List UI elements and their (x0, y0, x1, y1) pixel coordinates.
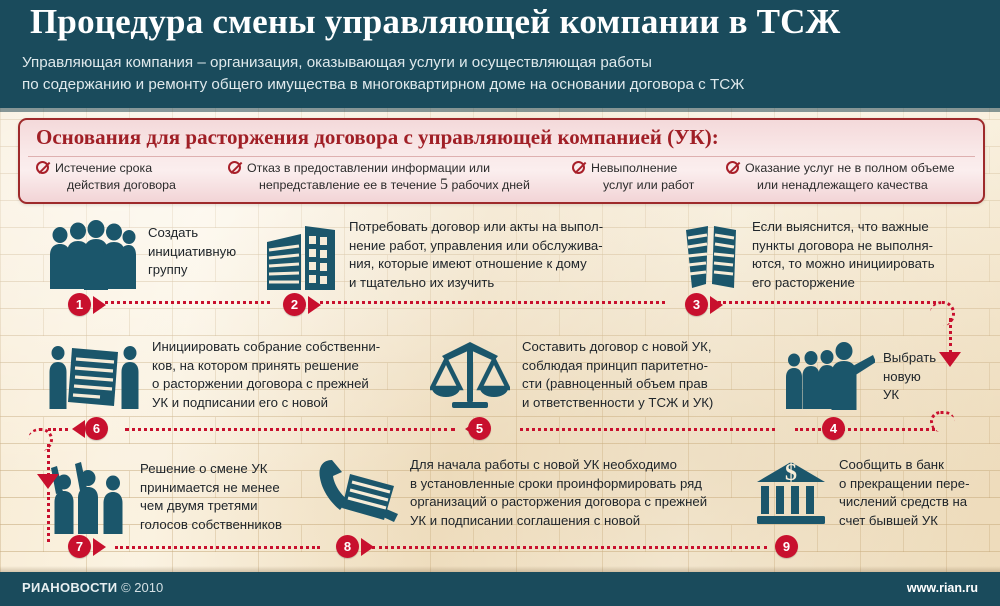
step-6-line-1: Инициировать собрание собственни- (152, 338, 380, 357)
step-3: Если выяснится, что важные пункты догово… (680, 220, 980, 306)
connector-1-to-2 (105, 301, 270, 304)
step-7-text: Решение о смене УК принимается не менее … (140, 460, 282, 534)
step-7-line-3: чем двумя третями (140, 497, 282, 516)
grounds-item-1-line-2: действия договора (55, 177, 226, 194)
step-4-line-1: Выбрать (883, 349, 936, 368)
prohibition-icon (572, 161, 585, 174)
step-5-line-1: Составить договор с новой УК, (522, 338, 713, 357)
step-7-arrow (93, 538, 106, 556)
step-5: Составить договор с новой УК, соблюдая п… (430, 340, 760, 430)
step-1: Создать инициативную группу 1 (48, 220, 278, 306)
step-6-text: Инициировать собрание собственни- ков, н… (152, 338, 380, 412)
step-8-text: Для начала работы с новой УК необходимо … (410, 456, 707, 530)
grounds-item-3-line-1: Невыполнение (591, 160, 722, 177)
step-5-line-4: и ответственности у ТСЖ и УК) (522, 394, 713, 413)
step-1-arrow (93, 296, 106, 314)
connector-2-to-3 (320, 301, 665, 304)
grounds-item-3-line-2: услуг или работ (591, 177, 722, 194)
step-3-line-3: ются, то можно инициировать (752, 255, 935, 274)
step-5-line-3: сти (равноценный объем прав (522, 375, 713, 394)
step-9-line-3: числений средств на (839, 493, 970, 512)
header-bar: Процедура смены управляющей компании в Т… (0, 0, 1000, 108)
grounds-item-2-text-b: рабочих дней (448, 178, 530, 192)
prohibition-icon (228, 161, 241, 174)
step-8-line-2: в установленные сроки проинформировать р… (410, 475, 707, 494)
step-9-text: Сообщить в банк о прекращении пере- числ… (839, 456, 970, 530)
step-2-badge: 2 (283, 293, 306, 316)
step-2: Потребовать договор или акты на выпол- н… (265, 220, 665, 306)
connector-8-to-9 (372, 546, 767, 549)
torn-contract-icon (680, 220, 742, 297)
connector-7-to-8 (115, 546, 320, 549)
svg-text:$: $ (785, 460, 797, 486)
step-1-line-3: группу (148, 261, 236, 280)
step-8: Для начала работы с новой УК необходимо … (318, 458, 768, 548)
footer-credit: РИАНОВОСТИ © 2010 (22, 580, 163, 595)
connector-4-inflow (795, 428, 935, 431)
step-7-line-2: принимается не менее (140, 479, 282, 498)
step-5-text: Составить договор с новой УК, соблюдая п… (522, 338, 713, 412)
connector-5-to-6 (125, 428, 455, 431)
step-1-text: Создать инициативную группу (148, 224, 236, 280)
connector-corner-row2-left (930, 411, 955, 432)
connector-6-outflow (48, 428, 68, 431)
connector-down-row2-row3 (47, 444, 50, 476)
connector-down-row1-row2 (949, 318, 952, 354)
step-8-arrow (361, 538, 374, 556)
grounds-item-2-number: 5 (440, 176, 448, 193)
group-of-people-icon (48, 220, 136, 297)
footer-website[interactable]: www.rian.ru (907, 581, 978, 595)
phone-fax-icon (318, 458, 400, 537)
subtitle-line-1: Управляющая компания – организация, оказ… (22, 52, 982, 74)
step-6-line-4: УК и подписании его с новой (152, 394, 380, 413)
step-2-arrow (308, 296, 321, 314)
connector-4-to-5 (520, 428, 775, 431)
grounds-item-2-line-1: Отказ в предоставлении информации или (247, 160, 568, 177)
people-pointing-icon (785, 340, 875, 417)
step-3-text: Если выяснится, что важные пункты догово… (752, 218, 935, 292)
step-1-line-2: инициативную (148, 243, 236, 262)
footer-bar: РИАНОВОСТИ © 2010 www.rian.ru (0, 572, 1000, 606)
step-4: Выбрать новую УК 4 (785, 340, 995, 430)
scales-of-justice-icon (430, 340, 510, 417)
grounds-item-2-text-a: непредставление ее в течение (259, 178, 440, 192)
grounds-item-2: Отказ в предоставлении информации или не… (228, 160, 568, 193)
step-1-line-1: Создать (148, 224, 236, 243)
step-6-badge: 6 (85, 417, 108, 440)
step-2-line-1: Потребовать договор или акты на выпол- (349, 218, 603, 237)
termination-grounds-panel: Основания для расторжения договора с упр… (18, 118, 985, 204)
footer-brand: РИАНОВОСТИ (22, 580, 117, 595)
grounds-item-2-line-2: непредставление ее в течение 5 рабочих д… (247, 177, 568, 194)
grounds-item-1-line-1: Истечение срока (55, 160, 226, 177)
step-6-line-2: ков, на котором принять решение (152, 357, 380, 376)
step-6: Инициировать собрание собственни- ков, н… (48, 340, 448, 430)
arrow-down-to-step-4 (939, 352, 961, 367)
infographic-page: Процедура смены управляющей компании в Т… (0, 0, 1000, 606)
step-5-line-2: соблюдая принцип паритетно- (522, 357, 713, 376)
step-3-badge: 3 (685, 293, 708, 316)
step-7: Решение о смене УК принимается не менее … (48, 458, 308, 548)
step-8-badge: 8 (336, 535, 359, 558)
step-9: $ Сообщить в банк о прекращении пере- чи… (755, 458, 995, 548)
step-2-line-3: ния, которые имеют отношение к дому (349, 255, 603, 274)
step-2-text: Потребовать договор или акты на выпол- н… (349, 218, 603, 292)
steps-flow: Создать инициативную группу 1 (0, 206, 1000, 566)
step-4-line-2: новую (883, 368, 936, 387)
arrow-down-to-step-7 (37, 474, 59, 489)
step-9-badge: 9 (775, 535, 798, 558)
buildings-icon (265, 220, 337, 297)
grounds-divider (28, 156, 975, 157)
step-4-badge: 4 (822, 417, 845, 440)
step-1-badge: 1 (68, 293, 91, 316)
step-7-line-4: голосов собственников (140, 516, 282, 535)
step-3-line-4: его расторжение (752, 274, 935, 293)
step-9-line-4: счет бывшей УК (839, 512, 970, 531)
step-7-badge: 7 (68, 535, 91, 558)
step-3-arrow (710, 296, 723, 314)
page-subtitle: Управляющая компания – организация, оказ… (22, 52, 982, 96)
step-2-line-2: нение работ, управления или обслужива- (349, 237, 603, 256)
step-8-line-4: УК и подписании соглашения с новой (410, 512, 707, 531)
connector-3-to-wrap (718, 301, 936, 304)
grounds-item-1: Истечение срока действия договора (36, 160, 226, 193)
meeting-document-icon (48, 340, 140, 417)
step-2-line-4: и тщательно их изучить (349, 274, 603, 293)
prohibition-icon (726, 161, 739, 174)
prohibition-icon (36, 161, 49, 174)
step-6-line-3: о расторжении договора с прежней (152, 375, 380, 394)
footer-copyright: © 2010 (121, 580, 163, 595)
step-4-text: Выбрать новую УК (883, 349, 936, 405)
step-9-line-1: Сообщить в банк (839, 456, 970, 475)
grounds-item-4-line-2: или ненадлежащего качества (745, 177, 981, 194)
step-7-line-1: Решение о смене УК (140, 460, 282, 479)
voting-people-icon (48, 458, 128, 541)
page-title: Процедура смены управляющей компании в Т… (30, 2, 980, 42)
step-8-line-3: организаций о расторжения договора с пре… (410, 493, 707, 512)
step-8-line-1: Для начала работы с новой УК необходимо (410, 456, 707, 475)
grounds-item-4: Оказание услуг не в полном объеме или не… (726, 160, 981, 193)
connector-down-to-row3 (47, 492, 50, 542)
bank-icon: $ (755, 458, 827, 535)
grounds-item-4-line-1: Оказание услуг не в полном объеме (745, 160, 981, 177)
step-4-line-3: УК (883, 386, 936, 405)
grounds-title: Основания для расторжения договора с упр… (36, 125, 719, 150)
subtitle-line-2: по содержанию и ремонту общего имущества… (22, 74, 982, 96)
arrow-left-to-step-6 (72, 420, 85, 438)
step-5-badge: 5 (468, 417, 491, 440)
grounds-item-3: Невыполнение услуг или работ (572, 160, 722, 193)
step-9-line-2: о прекращении пере- (839, 475, 970, 494)
step-3-line-1: Если выяснится, что важные (752, 218, 935, 237)
step-3-line-2: пункты договора не выполня- (752, 237, 935, 256)
